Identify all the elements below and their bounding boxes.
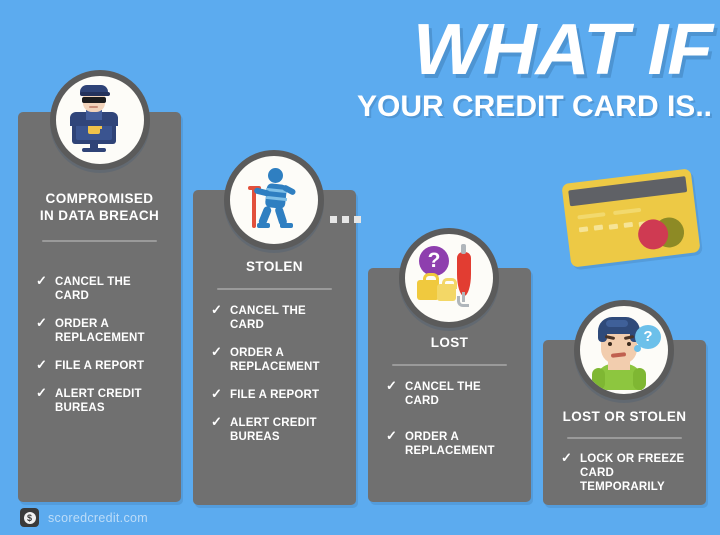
check-icon: ✓ (36, 274, 49, 288)
divider (567, 437, 682, 439)
card-stolen-list: ✓ CANCEL THE CARD ✓ ORDER A REPLACEMENT … (211, 304, 346, 458)
check-icon: ✓ (211, 415, 224, 429)
title-line-1: LOST (431, 335, 469, 350)
title-line-1: STOLEN (246, 259, 303, 274)
hacker-icon (50, 70, 150, 170)
headline-secondary: YOUR CREDIT CARD IS.. (322, 91, 712, 123)
check-icon: ✓ (386, 379, 399, 393)
confused-person-icon: ? (574, 300, 674, 400)
footer: $ scoredcredit.com (20, 508, 148, 527)
title-line-1: COMPROMISED (46, 191, 154, 206)
list-item: ✓ FILE A REPORT (211, 388, 346, 402)
card-lost-or-stolen-title: LOST OR STOLEN (543, 408, 706, 425)
list-item: ✓ CANCEL THE CARD (211, 304, 346, 332)
title-line-2: IN DATA BREACH (40, 208, 159, 223)
list-item: ✓ LOCK OR FREEZE CARD TEMPORARILY (561, 452, 701, 494)
divider (217, 288, 332, 290)
card-compromised-title: COMPROMISED IN DATA BREACH (18, 190, 181, 224)
credit-card-icon (561, 168, 700, 267)
card-number-mark (609, 224, 619, 230)
check-icon: ✓ (36, 358, 49, 372)
divider (392, 364, 507, 366)
headline-primary: WHAT IF (306, 14, 712, 86)
list-item: ✓ ORDER A REPLACEMENT (211, 346, 346, 374)
check-icon: ✓ (36, 386, 49, 400)
card-compromised-list: ✓ CANCEL THE CARD ✓ ORDER A REPLACEMENT … (36, 275, 171, 429)
ellipsis-icon (330, 216, 361, 223)
divider (42, 240, 157, 242)
list-item: ✓ ALERT CREDIT BUREAS (36, 387, 171, 415)
card-lost-list: ✓ CANCEL THE CARD ✓ ORDER A REPLACEMENT (386, 380, 521, 472)
coin-badge-icon: $ (20, 508, 39, 527)
list-item: ✓ ORDER A REPLACEMENT (386, 430, 521, 458)
site-url: scoredcredit.com (48, 511, 148, 525)
check-icon: ✓ (211, 387, 224, 401)
list-item: ✓ ALERT CREDIT BUREAS (211, 416, 346, 444)
card-lost-title: LOST (368, 334, 531, 351)
lost-and-found-icon: ? (399, 228, 499, 328)
check-icon: ✓ (561, 451, 574, 465)
check-icon: ✓ (36, 316, 49, 330)
list-item: ✓ CANCEL THE CARD (386, 380, 521, 408)
title-line-1: LOST OR STOLEN (563, 409, 687, 424)
list-item: ✓ FILE A REPORT (36, 359, 171, 373)
list-item: ✓ CANCEL THE CARD (36, 275, 171, 303)
infographic-canvas: WHAT IF YOUR CREDIT CARD IS.. (0, 0, 720, 535)
page-title: WHAT IF YOUR CREDIT CARD IS.. (322, 14, 712, 129)
check-icon: ✓ (386, 429, 399, 443)
burglar-icon (224, 150, 324, 250)
card-lost-or-stolen-list: ✓ LOCK OR FREEZE CARD TEMPORARILY (561, 452, 701, 508)
check-icon: ✓ (211, 303, 224, 317)
card-number-mark (624, 222, 634, 228)
card-stolen-title: STOLEN (193, 258, 356, 275)
list-item: ✓ ORDER A REPLACEMENT (36, 317, 171, 345)
coin-glyph: $ (24, 512, 36, 524)
check-icon: ✓ (211, 345, 224, 359)
